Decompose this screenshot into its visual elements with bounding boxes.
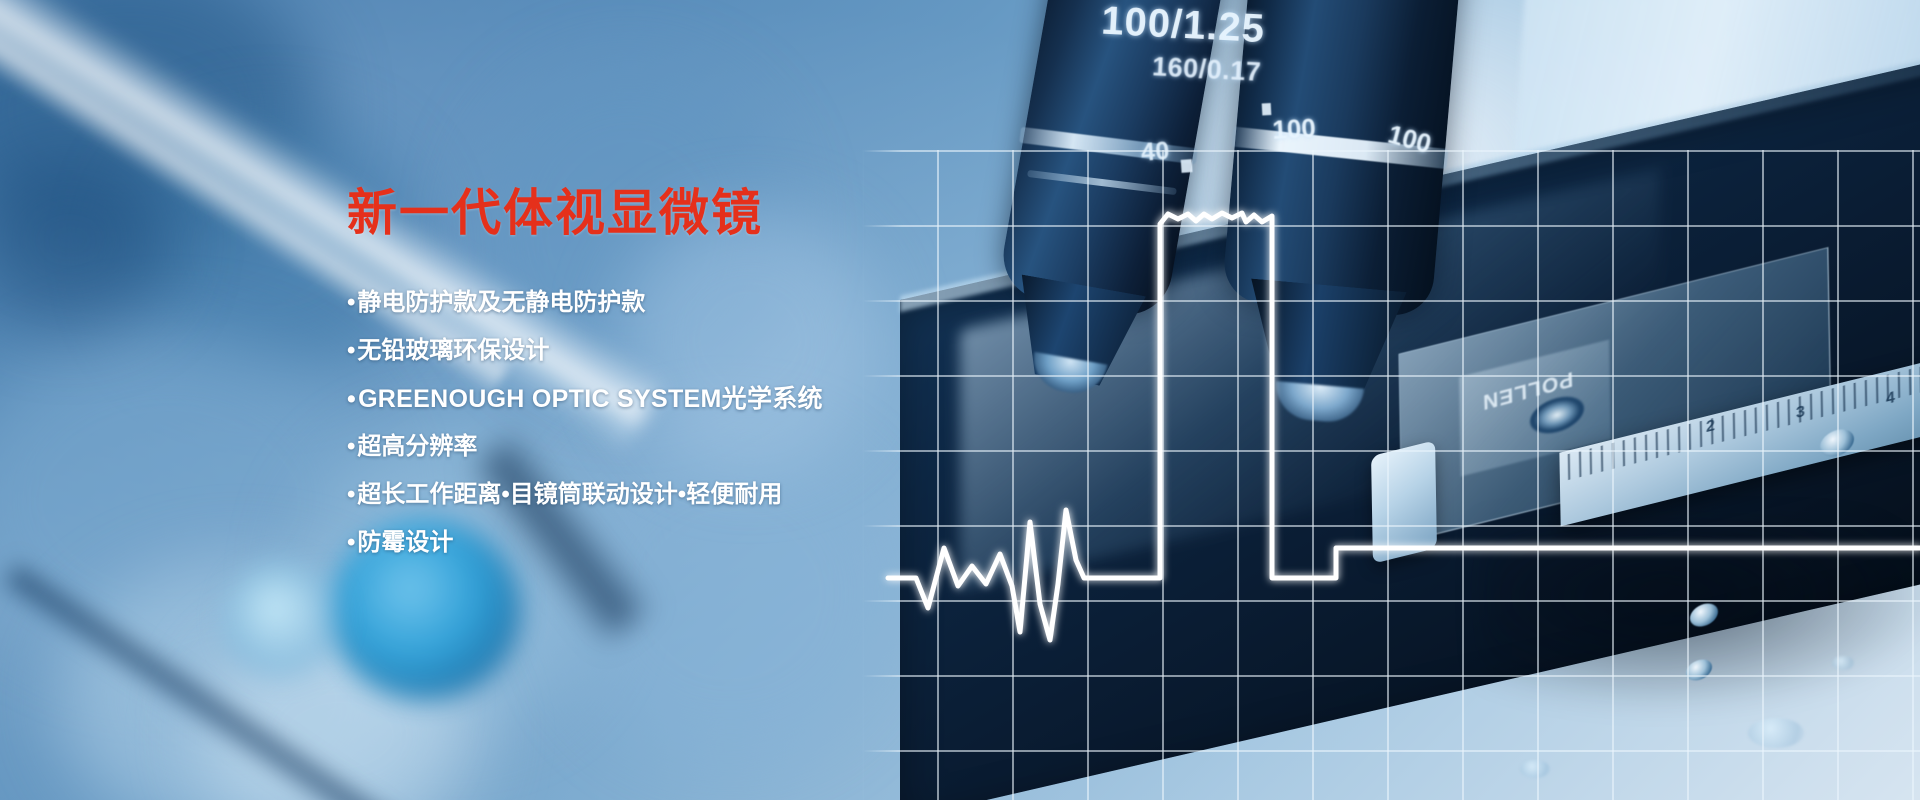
objective-ring-mark-left: 100 xyxy=(1272,113,1317,146)
list-item-label: 静电防护款及无静电防护款 xyxy=(357,289,645,316)
list-item-label: GREENOUGH OPTIC SYSTEM光学系统 xyxy=(358,385,823,413)
objective-tick-mark xyxy=(1262,103,1272,115)
list-item-label: 无铅玻璃环保设计 xyxy=(357,337,549,364)
banner-copy: 新一代体视显微镜 •静电防护款及无静电防护款 •无铅玻璃环保设计 •GREENO… xyxy=(347,186,907,567)
list-item: •静电防护款及无静电防护款 xyxy=(347,279,907,327)
measurement-grid-overlay xyxy=(862,150,1920,800)
list-item: •无铅玻璃环保设计 xyxy=(347,327,907,375)
list-item-label: 超长工作距离•目镜筒联动设计•轻便耐用 xyxy=(357,481,782,508)
bullet-dot-icon: • xyxy=(347,529,355,556)
banner-root: POLLEN 2 3 4 5 40 xyxy=(0,0,1920,800)
list-item: •超长工作距离•目镜筒联动设计•轻便耐用 xyxy=(347,471,907,519)
cyan-bokeh-orb xyxy=(222,560,342,680)
list-item-label: 超高分辨率 xyxy=(357,433,477,460)
list-item-label: 防霉设计 xyxy=(357,529,453,556)
bullet-dot-icon: • xyxy=(347,289,355,316)
page-title: 新一代体视显微镜 xyxy=(347,186,907,241)
list-item: •超高分辨率 xyxy=(347,423,907,471)
bullet-dot-icon: • xyxy=(347,385,356,413)
bullet-dot-icon: • xyxy=(347,433,355,460)
list-item: •GREENOUGH OPTIC SYSTEM光学系统 xyxy=(347,375,907,423)
list-item: •防霉设计 xyxy=(347,519,907,567)
bullet-dot-icon: • xyxy=(347,481,355,508)
bullet-dot-icon: • xyxy=(347,337,355,364)
feature-list: •静电防护款及无静电防护款 •无铅玻璃环保设计 •GREENOUGH OPTIC… xyxy=(347,279,907,567)
